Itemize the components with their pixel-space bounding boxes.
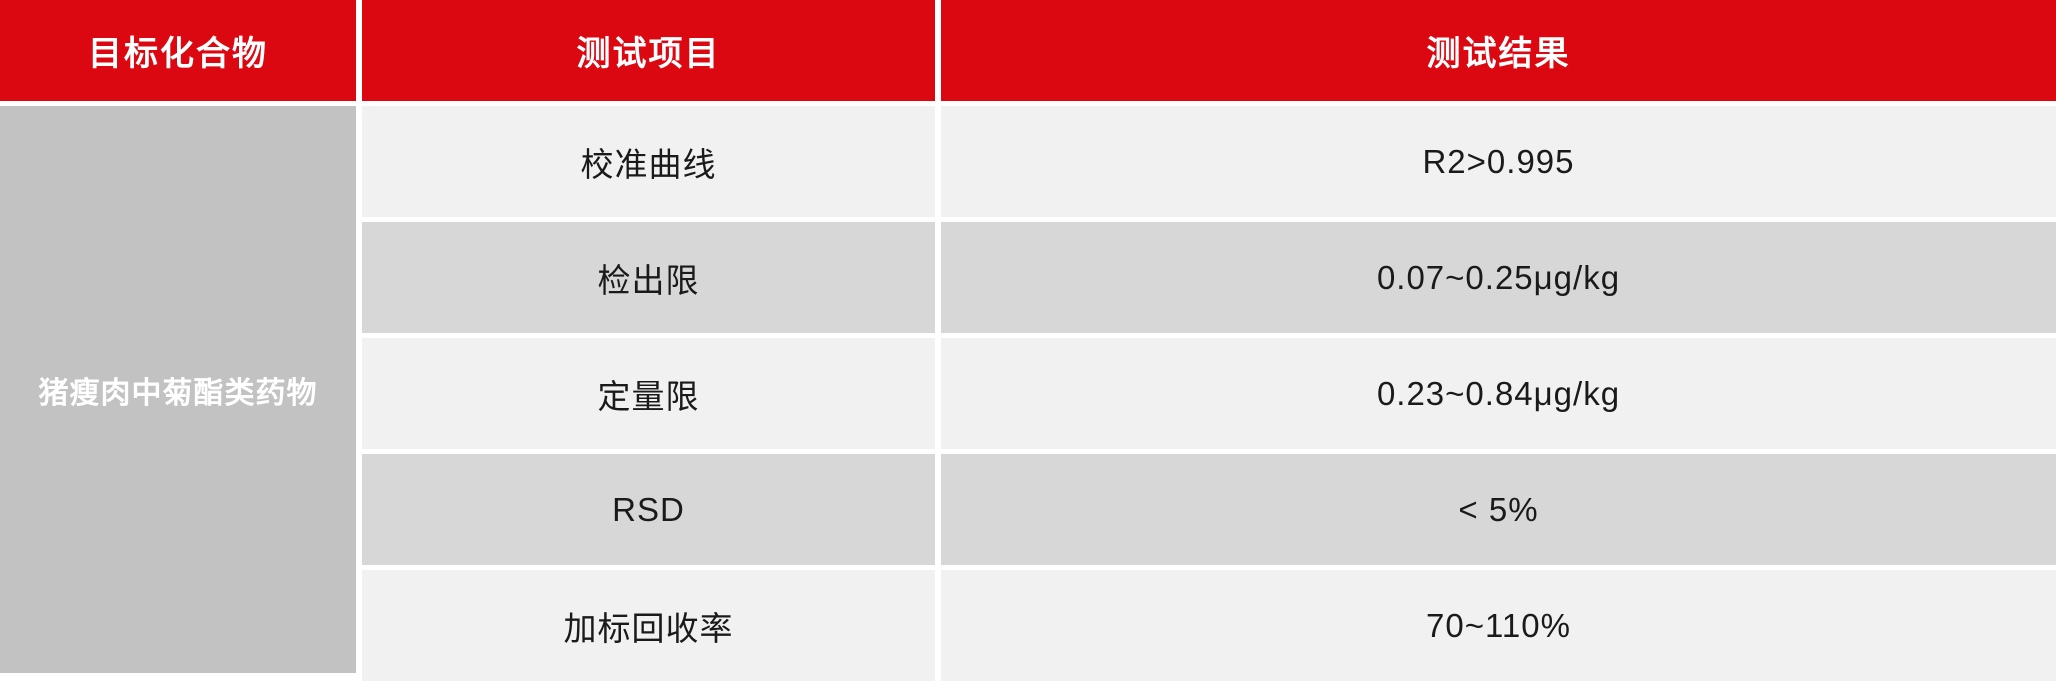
table-row: 定量限 0.23~0.84μg/kg: [362, 338, 2056, 449]
table-header-row: 目标化合物 测试项目 测试结果: [0, 0, 2056, 101]
test-result-cell: 0.23~0.84μg/kg: [941, 338, 2056, 449]
test-item-cell: RSD: [362, 454, 935, 565]
table-rows: 校准曲线 R2>0.995 检出限 0.07~0.25μg/kg 定量限 0.2…: [362, 106, 2056, 681]
table-row: RSD < 5%: [362, 454, 2056, 565]
compound-cell: 猪瘦肉中菊酯类药物: [0, 106, 356, 673]
table-body: 猪瘦肉中菊酯类药物 校准曲线 R2>0.995 检出限 0.07~0.25μg/…: [0, 101, 2056, 681]
table-row: 检出限 0.07~0.25μg/kg: [362, 222, 2056, 333]
table-row: 加标回收率 70~110%: [362, 570, 2056, 681]
column-header-compound: 目标化合物: [0, 0, 356, 101]
test-item-cell: 校准曲线: [362, 106, 935, 217]
test-item-cell: 检出限: [362, 222, 935, 333]
test-result-cell: 0.07~0.25μg/kg: [941, 222, 2056, 333]
column-header-test-result: 测试结果: [941, 0, 2056, 101]
test-item-cell: 定量限: [362, 338, 935, 449]
specification-table: 目标化合物 测试项目 测试结果 猪瘦肉中菊酯类药物 校准曲线 R2>0.995 …: [0, 0, 2056, 681]
column-header-test-item: 测试项目: [362, 0, 935, 101]
test-item-cell: 加标回收率: [362, 570, 935, 681]
test-result-cell: R2>0.995: [941, 106, 2056, 217]
test-result-cell: < 5%: [941, 454, 2056, 565]
test-result-cell: 70~110%: [941, 570, 2056, 681]
table-row: 校准曲线 R2>0.995: [362, 106, 2056, 217]
